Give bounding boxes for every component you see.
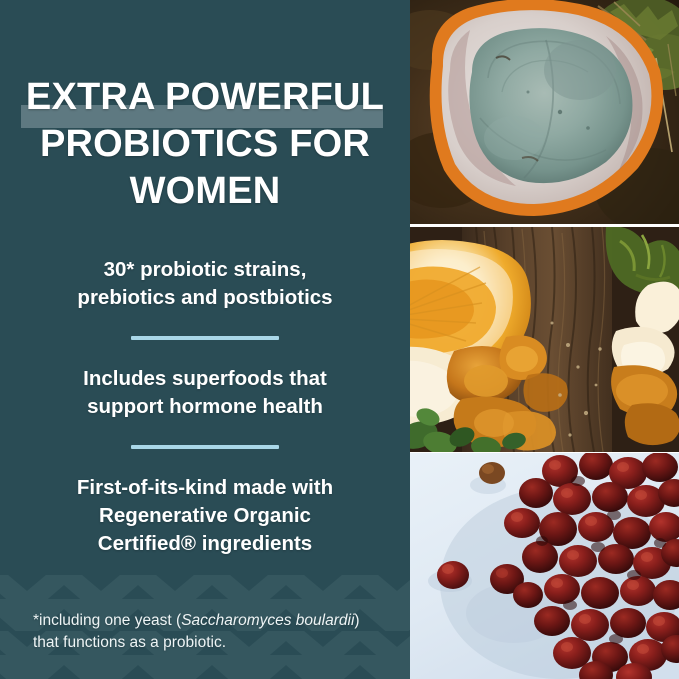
- feature-item-2-line-1: Includes superfoods that: [34, 365, 376, 393]
- feature-item-3-line-2: Regenerative Organic: [34, 502, 376, 530]
- headline-line-3: WOMEN: [0, 168, 410, 215]
- photo-column: [410, 0, 679, 679]
- photo-golden-shelf-mushrooms: [410, 227, 679, 452]
- product-feature-graphic: EXTRA POWERFUL PROBIOTICS FOR WOMEN 30* …: [0, 0, 679, 679]
- feature-item-2-line-2: support hormone health: [34, 393, 376, 421]
- footnote-species-name: Saccharomyces boulardii: [181, 612, 354, 629]
- divider-2: [131, 445, 279, 449]
- headline-line-2: PROBIOTICS FOR: [0, 121, 410, 168]
- photo-reishi-bracket-mushroom: [410, 0, 679, 224]
- feature-item-3-line-1: First-of-its-kind made with: [34, 474, 376, 502]
- footnote: *including one yeast (Saccharomyces boul…: [33, 610, 378, 654]
- feature-item-2: Includes superfoods that support hormone…: [0, 365, 410, 421]
- feature-list: 30* probiotic strains, prebiotics and po…: [0, 256, 410, 558]
- feature-item-3-line-3: Certified® ingredients: [34, 530, 376, 558]
- photo-dried-red-berries: [410, 453, 679, 679]
- feature-item-1-line-1: 30* probiotic strains,: [34, 256, 376, 284]
- page-title: EXTRA POWERFUL PROBIOTICS FOR WOMEN: [0, 74, 410, 215]
- feature-item-1: 30* probiotic strains, prebiotics and po…: [0, 256, 410, 312]
- text-panel: EXTRA POWERFUL PROBIOTICS FOR WOMEN 30* …: [0, 0, 410, 679]
- headline-line-1: EXTRA POWERFUL: [0, 74, 410, 121]
- divider-1: [131, 336, 279, 340]
- feature-item-3: First-of-its-kind made with Regenerative…: [0, 474, 410, 558]
- footnote-prefix: *including one yeast (: [33, 612, 181, 629]
- feature-item-1-line-2: prebiotics and postbiotics: [34, 284, 376, 312]
